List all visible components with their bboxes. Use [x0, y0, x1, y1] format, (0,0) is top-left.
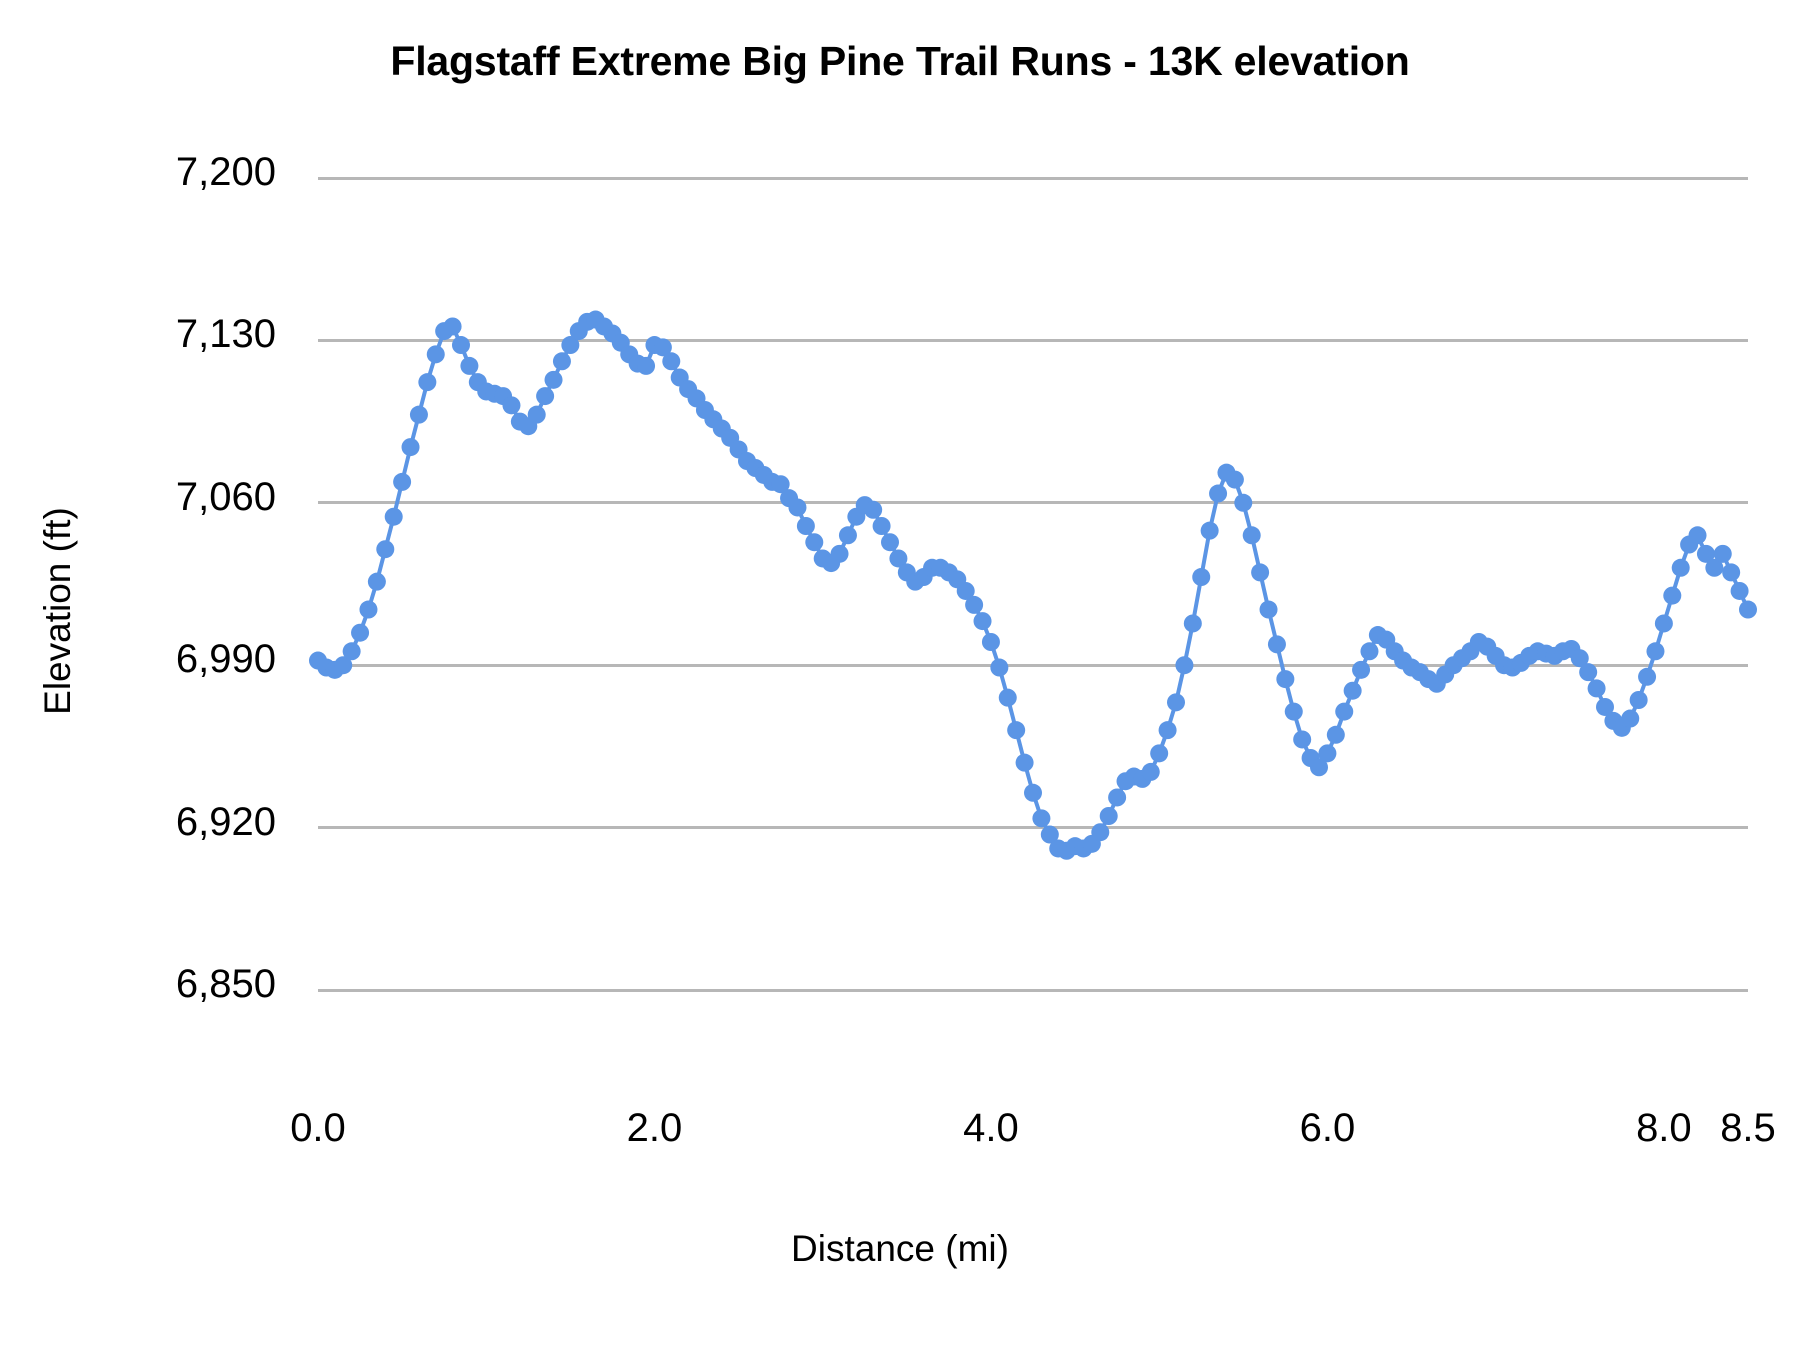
data-point	[545, 371, 563, 389]
data-point	[393, 473, 411, 491]
data-point	[1251, 563, 1269, 581]
data-point	[1142, 763, 1160, 781]
chart-container: Flagstaff Extreme Big Pine Trail Runs - …	[0, 0, 1800, 1350]
data-point	[839, 526, 857, 544]
data-point	[1689, 526, 1707, 544]
data-point	[881, 533, 899, 551]
elevation-line	[318, 320, 1748, 851]
data-point	[1150, 744, 1168, 762]
data-point	[1159, 721, 1177, 739]
data-point	[1621, 710, 1639, 728]
data-point	[1226, 471, 1244, 489]
data-point	[553, 352, 571, 370]
data-point	[805, 533, 823, 551]
data-point	[1739, 601, 1757, 619]
x-tick-label: 4.0	[891, 1106, 1091, 1151]
data-point	[536, 387, 554, 405]
data-point	[1108, 788, 1126, 806]
data-point	[1184, 614, 1202, 632]
y-axis-label: Elevation (ft)	[37, 491, 79, 731]
data-point	[662, 352, 680, 370]
y-tick-label: 6,990	[16, 637, 276, 682]
data-point	[1201, 522, 1219, 540]
data-point	[637, 357, 655, 375]
data-point	[1175, 656, 1193, 674]
data-point	[410, 406, 428, 424]
data-point	[873, 517, 891, 535]
data-point	[402, 438, 420, 456]
data-point	[797, 517, 815, 535]
data-point	[1209, 485, 1227, 503]
data-point	[1032, 809, 1050, 827]
data-point	[1091, 823, 1109, 841]
data-point	[1276, 670, 1294, 688]
x-tick-label: 2.0	[554, 1106, 754, 1151]
data-point	[1646, 642, 1664, 660]
data-point	[351, 624, 369, 642]
data-point	[1335, 703, 1353, 721]
data-point	[1663, 587, 1681, 605]
x-tick-label: 0.0	[218, 1106, 418, 1151]
data-point	[376, 540, 394, 558]
data-point	[1714, 545, 1732, 563]
data-point	[1007, 721, 1025, 739]
data-point	[1167, 693, 1185, 711]
data-point	[343, 642, 361, 660]
data-point	[974, 612, 992, 630]
data-point	[502, 396, 520, 414]
data-point	[1192, 568, 1210, 586]
data-point	[1655, 614, 1673, 632]
data-point	[965, 596, 983, 614]
data-point	[418, 373, 436, 391]
data-point	[1630, 691, 1648, 709]
data-point	[1722, 563, 1740, 581]
data-point	[1285, 703, 1303, 721]
data-point	[1318, 744, 1336, 762]
data-point	[1243, 526, 1261, 544]
plot-area	[318, 178, 1748, 990]
data-point	[1344, 682, 1362, 700]
chart-title: Flagstaff Extreme Big Pine Trail Runs - …	[0, 38, 1800, 85]
elevation-series	[318, 178, 1748, 990]
data-point	[831, 545, 849, 563]
data-point	[1293, 730, 1311, 748]
x-tick-label: 6.0	[1227, 1106, 1427, 1151]
data-point	[1024, 784, 1042, 802]
data-point	[990, 659, 1008, 677]
data-point	[1016, 754, 1034, 772]
data-point	[864, 501, 882, 519]
data-point	[982, 633, 1000, 651]
data-point	[460, 357, 478, 375]
data-point	[1638, 668, 1656, 686]
data-point	[368, 573, 386, 591]
data-point	[1672, 559, 1690, 577]
elevation-markers	[309, 311, 1757, 860]
data-point	[1234, 494, 1252, 512]
data-point	[999, 689, 1017, 707]
x-axis-label: Distance (mi)	[0, 1228, 1800, 1270]
y-tick-label: 7,060	[16, 475, 276, 520]
data-point	[359, 601, 377, 619]
data-point	[528, 406, 546, 424]
y-tick-label: 6,920	[16, 800, 276, 845]
y-tick-label: 7,130	[16, 312, 276, 357]
data-point	[1579, 663, 1597, 681]
data-point	[427, 345, 445, 363]
data-point	[1588, 679, 1606, 697]
y-tick-label: 6,850	[16, 962, 276, 1007]
x-tick-label: 8.5	[1648, 1106, 1800, 1151]
data-point	[1100, 807, 1118, 825]
data-point	[1352, 661, 1370, 679]
data-point	[1731, 582, 1749, 600]
data-point	[385, 508, 403, 526]
data-point	[1260, 601, 1278, 619]
data-point	[1360, 642, 1378, 660]
data-point	[1327, 726, 1345, 744]
data-point	[452, 336, 470, 354]
data-point	[444, 317, 462, 335]
data-point	[788, 498, 806, 516]
data-point	[1268, 635, 1286, 653]
y-tick-label: 7,200	[16, 150, 276, 195]
